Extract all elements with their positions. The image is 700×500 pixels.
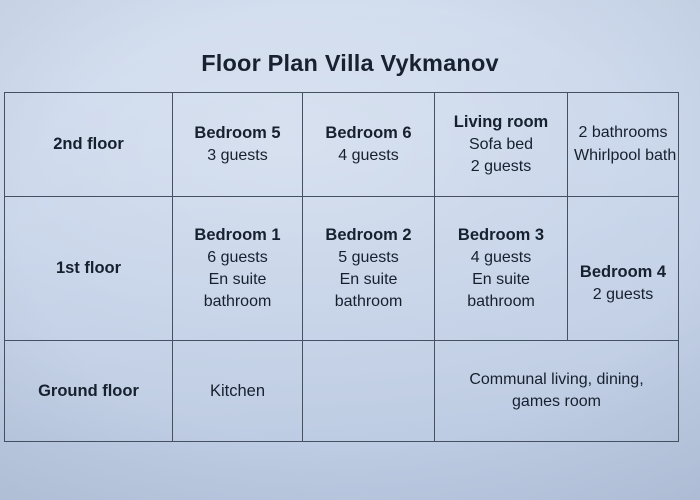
table-row: 2nd floor Bedroom 5 3 guests Bedroom 6 4… (5, 93, 679, 197)
room-detail: 2 bathrooms (574, 122, 672, 144)
table-row: 1st floor Bedroom 1 6 guests En suite ba… (5, 197, 679, 341)
cell-bedroom-4: Bedroom 4 2 guests (568, 197, 679, 341)
room-detail: 2 guests (441, 156, 561, 178)
room-detail: bathroom (179, 291, 296, 313)
room-detail: 2 guests (574, 284, 672, 306)
cell-empty (303, 341, 435, 442)
floor-label-2nd: 2nd floor (5, 93, 173, 197)
floor-label-1st: 1st floor (5, 197, 173, 341)
room-name: Bedroom 6 (309, 122, 428, 145)
room-detail: Sofa bed (441, 134, 561, 156)
room-detail: games room (441, 391, 672, 413)
room-detail: 3 guests (179, 145, 296, 167)
room-name: Bedroom 1 (179, 224, 296, 247)
room-detail: Communal living, dining, (441, 369, 672, 391)
room-detail: bathroom (309, 291, 428, 313)
cell-bedroom-2: Bedroom 2 5 guests En suite bathroom (303, 197, 435, 341)
room-detail: bathroom (441, 291, 561, 313)
cell-bedroom-6: Bedroom 6 4 guests (303, 93, 435, 197)
table: 2nd floor Bedroom 5 3 guests Bedroom 6 4… (4, 92, 679, 442)
room-detail: 4 guests (441, 247, 561, 269)
room-detail: En suite (441, 269, 561, 291)
room-detail: 6 guests (179, 247, 296, 269)
room-name: Bedroom 4 (574, 261, 672, 284)
room-detail: 5 guests (309, 247, 428, 269)
floor-label-ground: Ground floor (5, 341, 173, 442)
room-detail: En suite (309, 269, 428, 291)
cell-bedroom-3: Bedroom 3 4 guests En suite bathroom (435, 197, 568, 341)
room-detail: En suite (179, 269, 296, 291)
room-detail: 4 guests (309, 145, 428, 167)
room-name: Bedroom 3 (441, 224, 561, 247)
photographed-floor-plan-page: Floor Plan Villa Vykmanov 2nd floor Bedr… (0, 0, 700, 500)
cell-communal-areas: Communal living, dining, games room (435, 341, 679, 442)
cell-bedroom-5: Bedroom 5 3 guests (173, 93, 303, 197)
room-name: Living room (441, 111, 561, 134)
room-detail: Whirlpool bath (574, 145, 672, 167)
table-row: Ground floor Kitchen Communal living, di… (5, 341, 679, 442)
floor-plan-table: 2nd floor Bedroom 5 3 guests Bedroom 6 4… (4, 92, 678, 441)
cell-bedroom-1: Bedroom 1 6 guests En suite bathroom (173, 197, 303, 341)
cell-bathrooms: 2 bathrooms Whirlpool bath (568, 93, 679, 197)
room-name: Bedroom 2 (309, 224, 428, 247)
cell-living-room: Living room Sofa bed 2 guests (435, 93, 568, 197)
page-title: Floor Plan Villa Vykmanov (0, 50, 700, 77)
cell-kitchen: Kitchen (173, 341, 303, 442)
room-name: Bedroom 5 (179, 122, 296, 145)
